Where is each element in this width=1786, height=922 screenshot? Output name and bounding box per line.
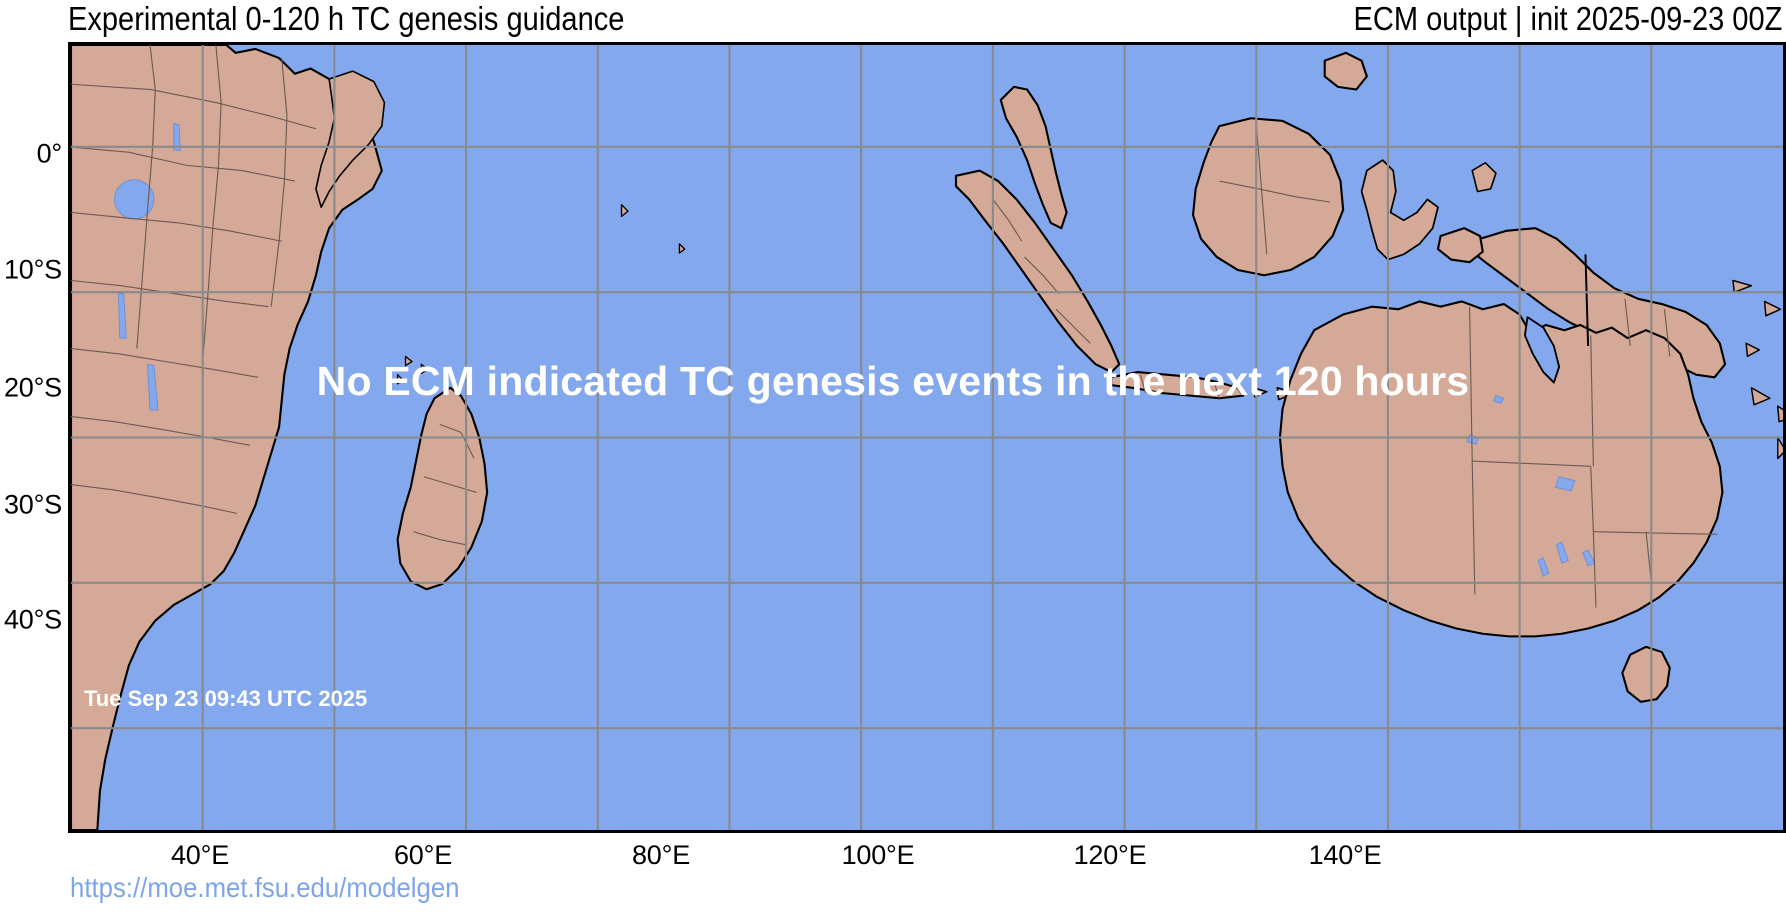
x-tick-140E: 140°E bbox=[1309, 840, 1382, 871]
generation-timestamp: Tue Sep 23 09:43 UTC 2025 bbox=[84, 686, 367, 712]
model-init-label: ECM output | init 2025-09-23 00Z bbox=[1353, 0, 1782, 40]
no-genesis-message: No ECM indicated TC genesis events in th… bbox=[0, 358, 1786, 405]
x-tick-80E: 80°E bbox=[632, 840, 690, 871]
map-panel bbox=[68, 42, 1786, 833]
y-tick-30S: 30°S bbox=[4, 490, 62, 521]
x-tick-60E: 60°E bbox=[394, 840, 452, 871]
world-map bbox=[71, 45, 1783, 830]
y-tick-40S: 40°S bbox=[4, 605, 62, 636]
source-url-link[interactable]: https://moe.met.fsu.edu/modelgen bbox=[70, 872, 459, 904]
header: Experimental 0-120 h TC genesis guidance… bbox=[0, 0, 1786, 42]
x-tick-40E: 40°E bbox=[171, 840, 229, 871]
y-tick-10S: 10°S bbox=[4, 255, 62, 286]
tc-genesis-guidance-page: Experimental 0-120 h TC genesis guidance… bbox=[0, 0, 1786, 922]
y-tick-0: 0° bbox=[37, 139, 62, 170]
x-tick-120E: 120°E bbox=[1074, 840, 1147, 871]
page-title: Experimental 0-120 h TC genesis guidance bbox=[68, 0, 624, 40]
x-tick-100E: 100°E bbox=[842, 840, 915, 871]
